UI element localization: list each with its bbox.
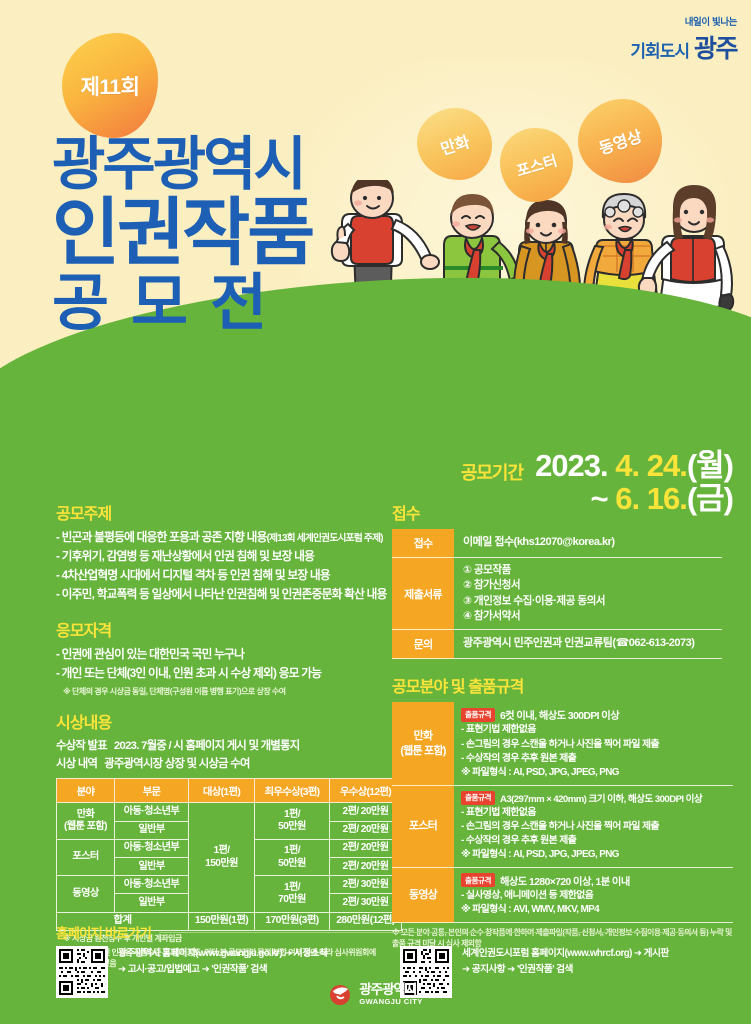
- period-start-line: 2023. 4. 24.(월): [535, 450, 733, 483]
- awards-announce-value: 2023. 7월중 / 시 홈페이지 게시 및 개별통지: [114, 740, 300, 752]
- edition-badge: 제11회: [62, 33, 158, 138]
- spec-summary: A3(297mm × 420mm) 크기 이하, 해상도 300DPI 이상: [500, 791, 702, 805]
- list-item: - 빈곤과 불평등에 대응한 포용과 공존 지향 내용(제13회 세계인권도시포…: [56, 529, 382, 548]
- edition-badge-label: 제11회: [81, 71, 140, 101]
- spec-line: - 실사영상, 애니메이션 등 제한없음: [461, 889, 733, 903]
- spec-tagrow: 출품규격 6컷 이내, 해상도 300DPI 이상: [461, 707, 733, 722]
- spec-tag: 출품규격: [461, 791, 495, 805]
- footer-name-ko: 광주광역시: [359, 983, 422, 997]
- content-area: 공모주제 - 빈곤과 불평등에 대응한 포용과 공존 지향 내용(제13회 세계…: [0, 500, 751, 970]
- reception-value-1: ① 공모작품 ② 참가신청서 ③ 개인정보 수집·이용·제공 동의서 ④ 참가서…: [454, 558, 722, 630]
- cell-division: 일반부: [115, 894, 189, 912]
- spec-summary: 6컷 이내, 해상도 300DPI 이상: [500, 707, 619, 722]
- reception-heading: 접수: [392, 500, 737, 524]
- gwangju-city-logo-icon: [328, 983, 352, 1007]
- cell-excellent: 2편/ 20만원: [330, 803, 402, 821]
- awards-detail-label: 시상 내역: [56, 758, 97, 770]
- col-excellent: 우수상(12편): [330, 779, 402, 803]
- reception-value-0: 이메일 접수(khs12070@korea.kr): [454, 529, 722, 558]
- title-line-1: 광주광역시: [52, 137, 312, 193]
- spec-tagrow: 출품규격 A3(297mm × 420mm) 크기 이하, 해상도 300DPI…: [461, 791, 733, 805]
- table-row: 문의 광주광역시 민주인권과 인권교류팀(☎062-613-2073): [392, 630, 722, 659]
- col-grand: 대상(1편): [189, 779, 255, 803]
- awards-announce-label: 수상작 발표: [56, 740, 107, 752]
- spec-line: ※ 파일형식 : AI, PSD, JPG, JPEG, PNG: [461, 848, 733, 862]
- eligibility-item-main: - 개인 또는 단체(3인 이내, 인원 초과 시 수상 제외) 응모 가능: [56, 667, 321, 680]
- topic-heading: 공모주제: [56, 500, 382, 524]
- cell-division: 일반부: [115, 821, 189, 839]
- cell-division: 일반부: [115, 858, 189, 876]
- list-item: - 개인 또는 단체(3인 이내, 인원 초과 시 수상 제외) 응모 가능: [56, 665, 382, 684]
- reception-label-2: 문의: [392, 630, 454, 659]
- spec-label-cartoon: 만화 (웹툰 포함): [392, 702, 454, 785]
- ci-tagline: 내일이 빛나는: [630, 14, 737, 28]
- list-item: - 기후위기, 감염병 등 재난상황에서 인권 침해 및 보장 내용: [56, 548, 382, 567]
- spec-label-poster: 포스터: [392, 785, 454, 867]
- reception-label-0: 접수: [392, 529, 454, 558]
- spec-line: - 표현기법 제한없음: [461, 723, 733, 737]
- cell-best-poster: 1편/ 50만원: [255, 839, 330, 875]
- col-field: 분야: [57, 779, 115, 803]
- cell-best-video: 1편/ 70만원: [255, 876, 330, 912]
- spec-lines: - 표현기법 제한없음 - 손그림의 경우 스캔을 하거나 사진을 찍어 파일 …: [461, 806, 733, 862]
- spec-line: - 수상작의 경우 추후 원본 제출: [461, 834, 733, 848]
- spec-line: - 손그림의 경우 스캔을 하거나 사진을 찍어 파일 제출: [461, 738, 733, 752]
- cell-division: 아동·청소년부: [115, 876, 189, 894]
- cell-field-video: 동영상: [57, 876, 115, 912]
- cell-excellent: 2편/ 30만원: [330, 876, 402, 894]
- cell-excellent: 2편/ 30만원: [330, 894, 402, 912]
- period-start-day: (월): [687, 448, 733, 483]
- field-sub: (웹툰 포함): [58, 821, 113, 833]
- spec-line: ※ 파일형식 : AI, PSD, JPG, JPEG, PNG: [461, 766, 733, 780]
- list-item: - 4차산업혁명 시대에서 디지털 격차 등 인권 침해 및 보장 내용: [56, 567, 382, 586]
- spec-lines: - 실사영상, 애니메이션 등 제한없음 ※ 파일형식 : AVI, WMV, …: [461, 889, 733, 917]
- link-line-2: ➜ 고시·공고/입법예고 ➜ '인권작품' 검색: [118, 962, 327, 978]
- spec-line: - 손그림의 경우 스캔을 하거나 사진을 찍어 파일 제출: [461, 820, 733, 834]
- doc-item: ② 참가신청서: [463, 578, 722, 593]
- cell-excellent: 2편/ 20만원: [330, 858, 402, 876]
- spec-value-cartoon: 출품규격 6컷 이내, 해상도 300DPI 이상 - 표현기법 제한없음 - …: [454, 702, 733, 785]
- table-row: 동영상 출품규격 해상도 1280×720 이상, 1분 이내 - 실사영상, …: [392, 867, 733, 922]
- reception-label-1: 제출서류: [392, 558, 454, 630]
- links-heading-row: 홈페이지 바로가기: [56, 922, 696, 942]
- table-row: 만화 (웹툰 포함) 출품규격 6컷 이내, 해상도 300DPI 이상 - 표…: [392, 702, 733, 785]
- reception-table: 접수 이메일 접수(khs12070@korea.kr) 제출서류 ① 공모작품…: [392, 529, 722, 659]
- list-item: - 인권에 관심이 있는 대한민국 국민 누구나: [56, 646, 382, 665]
- footer-logo: 광주광역시 GWANGJU CITY: [0, 983, 751, 1007]
- link-line-2: ➜ 공지사항 ➜ '인권작품' 검색: [462, 962, 669, 978]
- cell-best-cartoon: 1편/ 50만원: [255, 803, 330, 839]
- eligibility-list: - 인권에 관심이 있는 대한민국 국민 누구나 - 개인 또는 단체(3인 이…: [56, 646, 382, 684]
- category-badge-poster-label: 포스터: [514, 149, 560, 181]
- gwangju-ci-logo: 내일이 빛나는 기회도시 광주: [630, 14, 737, 65]
- ci-main-text: 광주: [694, 29, 737, 65]
- table-row: 제출서류 ① 공모작품 ② 참가신청서 ③ 개인정보 수집·이용·제공 동의서 …: [392, 558, 722, 630]
- cell-division: 아동·청소년부: [115, 839, 189, 857]
- specs-table: 만화 (웹툰 포함) 출품규격 6컷 이내, 해상도 300DPI 이상 - 표…: [392, 702, 733, 923]
- doc-item: ① 공모작품: [463, 563, 722, 578]
- category-badge-cartoon-label: 만화: [437, 128, 472, 160]
- col-best: 최우수상(3편): [255, 779, 330, 803]
- reception-value-2: 광주광역시 민주인권과 인권교류팀(☎062-613-2073): [454, 630, 722, 659]
- spec-line: ※ 파일형식 : AVI, WMV, MKV, MP4: [461, 903, 733, 917]
- doc-item: ③ 개인정보 수집·이용·제공 동의서: [463, 594, 722, 609]
- awards-detail-value: 광주광역시장 상장 및 시상금 수여: [104, 758, 249, 770]
- category-badge-video-label: 동영상: [595, 123, 644, 159]
- spec-line: - 수상작의 경우 추후 원본 제출: [461, 752, 733, 766]
- page-title: 광주광역시 인권작품 공모전: [52, 137, 312, 333]
- spec-tag: 출품규격: [461, 873, 495, 887]
- table-row: 포스터 출품규격 A3(297mm × 420mm) 크기 이하, 해상도 30…: [392, 785, 733, 867]
- field-name: 만화: [58, 809, 113, 821]
- spec-value-poster: 출품규격 A3(297mm × 420mm) 크기 이하, 해상도 300DPI…: [454, 785, 733, 867]
- spec-lines: - 표현기법 제한없음 - 손그림의 경우 스캔을 하거나 사진을 찍어 파일 …: [461, 723, 733, 779]
- topic-list: - 빈곤과 불평등에 대응한 포용과 공존 지향 내용(제13회 세계인권도시포…: [56, 529, 382, 605]
- spec-summary: 해상도 1280×720 이상, 1분 이내: [500, 873, 630, 888]
- topic-item-main: - 빈곤과 불평등에 대응한 포용과 공존 지향 내용: [56, 531, 267, 544]
- spec-label-sub: (웹툰 포함): [393, 744, 453, 758]
- divider: [159, 932, 696, 933]
- links-heading: 홈페이지 바로가기: [56, 922, 151, 942]
- right-column: 접수 접수 이메일 접수(khs12070@korea.kr) 제출서류 ① 공…: [392, 500, 751, 970]
- eligibility-item-main: - 인권에 관심이 있는 대한민국 국민 누구나: [56, 648, 244, 661]
- list-item: - 이주민, 학교폭력 등 일상에서 나타난 인권침해 및 인권존중문화 확산 …: [56, 586, 382, 605]
- left-column: 공모주제 - 빈곤과 불평등에 대응한 포용과 공존 지향 내용(제13회 세계…: [0, 500, 392, 970]
- title-line-3: 공모전: [52, 274, 312, 334]
- topic-item-small: (제13회 세계인권도시포럼 주제): [267, 533, 383, 544]
- spec-tag: 출품규격: [461, 708, 495, 722]
- link-line-1: 광주광역시 홈페이지(www.gwangju.go.kr) ➜ 시정소식: [118, 946, 327, 962]
- poster-root: 제11회 만화 포스터 동영상 내일이 빛나는 기회도시 광주 광주광역시 인권…: [0, 0, 751, 1024]
- spec-tagrow: 출품규격 해상도 1280×720 이상, 1분 이내: [461, 873, 733, 888]
- awards-heading: 시상내용: [56, 709, 382, 733]
- period-start-year: 2023.: [535, 448, 608, 483]
- ci-sub-text: 기회도시: [630, 37, 689, 62]
- topic-item-main: - 기후위기, 감염병 등 재난상황에서 인권 침해 및 보장 내용: [56, 550, 314, 563]
- period-start-md: 4. 24.: [615, 448, 687, 483]
- ci-tagline-text: 내일이 빛나는: [685, 17, 737, 28]
- link-text-whrcf: 세계인권도시포럼 홈페이지(www.whrcf.org) ➜ 게시판 ➜ 공지사…: [462, 946, 669, 978]
- cell-field-cartoon: 만화 (웹툰 포함): [57, 803, 115, 839]
- footer-text: 광주광역시 GWANGJU CITY: [359, 983, 422, 1006]
- specs-heading: 공모분야 및 출품규격: [392, 673, 737, 697]
- awards-announce-row: 수상작 발표2023. 7월중 / 시 홈페이지 게시 및 개별통지: [56, 738, 382, 756]
- period-label: 공모기간: [461, 450, 523, 485]
- table-header-row: 분야 부문 대상(1편) 최우수상(3편) 우수상(12편): [57, 779, 402, 803]
- spec-line: - 표현기법 제한없음: [461, 806, 733, 820]
- green-base: [0, 406, 751, 448]
- eligibility-heading: 응모자격: [56, 617, 382, 641]
- table-row: 만화 (웹툰 포함) 아동·청소년부 1편/ 150만원 1편/ 50만원 2편…: [57, 803, 402, 821]
- title-line-2: 인권작품: [52, 197, 312, 268]
- col-division: 부문: [115, 779, 189, 803]
- cell-division: 아동·청소년부: [115, 803, 189, 821]
- topic-item-main: - 4차산업혁명 시대에서 디지털 격차 등 인권 침해 및 보장 내용: [56, 569, 330, 582]
- cell-excellent: 2편/ 20만원: [330, 821, 402, 839]
- cell-excellent: 2편/ 20만원: [330, 839, 402, 857]
- topic-item-main: - 이주민, 학교폭력 등 일상에서 나타난 인권침해 및 인권존중문화 확산 …: [56, 588, 387, 601]
- spec-value-video: 출품규격 해상도 1280×720 이상, 1분 이내 - 실사영상, 애니메이…: [454, 867, 733, 922]
- footer-name-en: GWANGJU CITY: [359, 997, 422, 1007]
- doc-item: ④ 참가서약서: [463, 609, 722, 624]
- spec-label-main: 만화: [393, 729, 453, 743]
- table-row: 접수 이메일 접수(khs12070@korea.kr): [392, 529, 722, 558]
- link-line-1: 세계인권도시포럼 홈페이지(www.whrcf.org) ➜ 게시판: [462, 946, 669, 962]
- link-text-gwangju: 광주광역시 홈페이지(www.gwangju.go.kr) ➜ 시정소식 ➜ 고…: [118, 946, 327, 978]
- header-background: 제11회 만화 포스터 동영상 내일이 빛나는 기회도시 광주 광주광역시 인권…: [0, 0, 751, 448]
- cell-field-poster: 포스터: [57, 839, 115, 875]
- ci-wordmark: 기회도시 광주: [630, 29, 737, 65]
- awards-detail-row: 시상 내역광주광역시장 상장 및 시상금 수여: [56, 756, 382, 774]
- eligibility-note: ※ 단체의 경우 시상금 동일, 단체명(구성원 이름 병행 표기)으로 상장 …: [56, 686, 382, 698]
- awards-table: 분야 부문 대상(1편) 최우수상(3편) 우수상(12편) 만화 (웹툰 포함…: [56, 778, 402, 931]
- spec-label-video: 동영상: [392, 867, 454, 922]
- cell-grand-prize: 1편/ 150만원: [189, 803, 255, 912]
